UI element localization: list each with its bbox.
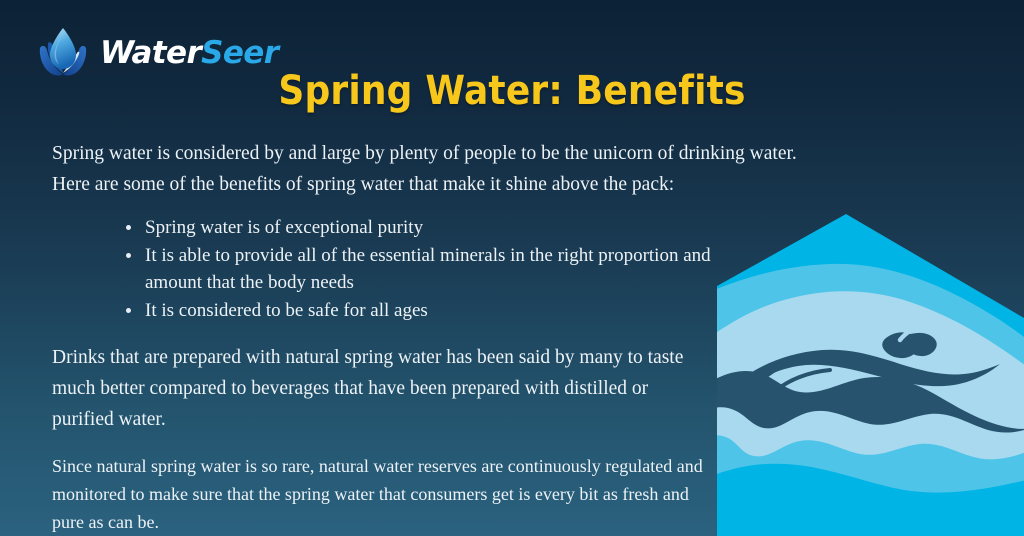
list-item: It is considered to be safe for all ages (52, 297, 712, 324)
list-item: Spring water is of exceptional purity (52, 214, 712, 241)
list-item-label: It is able to provide all of the essenti… (145, 245, 711, 293)
benefits-list: Spring water is of exceptional purity It… (52, 214, 712, 324)
bullet-icon (126, 308, 131, 313)
wave-layer-navy-swell (700, 371, 1024, 536)
brand-wordmark: WaterSeer (100, 38, 278, 69)
article-body: Spring water is considered by and large … (52, 138, 712, 536)
mid-paragraph: Drinks that are prepared with natural sp… (52, 342, 712, 435)
brand-name-accent: Seer (201, 35, 278, 71)
wave-navy-blob-tail (903, 333, 937, 356)
wave-navy-streak-curve (762, 358, 818, 378)
wave-spray-arc-1 (908, 317, 944, 327)
wave-navy-blob (882, 332, 918, 358)
list-item-label: It is considered to be safe for all ages (145, 300, 428, 321)
list-item-label: Spring water is of exceptional purity (145, 217, 423, 238)
wave-navy-streak-left (726, 392, 761, 411)
wave-layer-bright-bottom (700, 464, 1024, 536)
wave-layer-mid-dome (700, 264, 1024, 536)
bullet-icon (126, 225, 131, 230)
wave-navy-streak-thin (774, 370, 830, 392)
wave-layer-light-lower (700, 407, 1024, 470)
closing-paragraph: Since natural spring water is so rare, n… (52, 452, 712, 536)
infographic-canvas: WaterSeer Spring Water: Benefits Spring … (0, 0, 1024, 536)
brand-name-primary: Water (100, 35, 201, 71)
bullet-icon (126, 253, 131, 258)
page-title: Spring Water: Benefits (51, 68, 973, 114)
wave-layer-mid-lower (700, 435, 1024, 536)
intro-paragraph: Spring water is considered by and large … (52, 138, 797, 200)
wave-spray-arc-2 (900, 325, 948, 340)
list-item: It is able to provide all of the essenti… (52, 242, 712, 296)
wave-spray-arc-3 (828, 338, 872, 344)
wave-crest-navy-ridge (752, 350, 1000, 386)
wave-layer-light-upper (700, 291, 1024, 536)
